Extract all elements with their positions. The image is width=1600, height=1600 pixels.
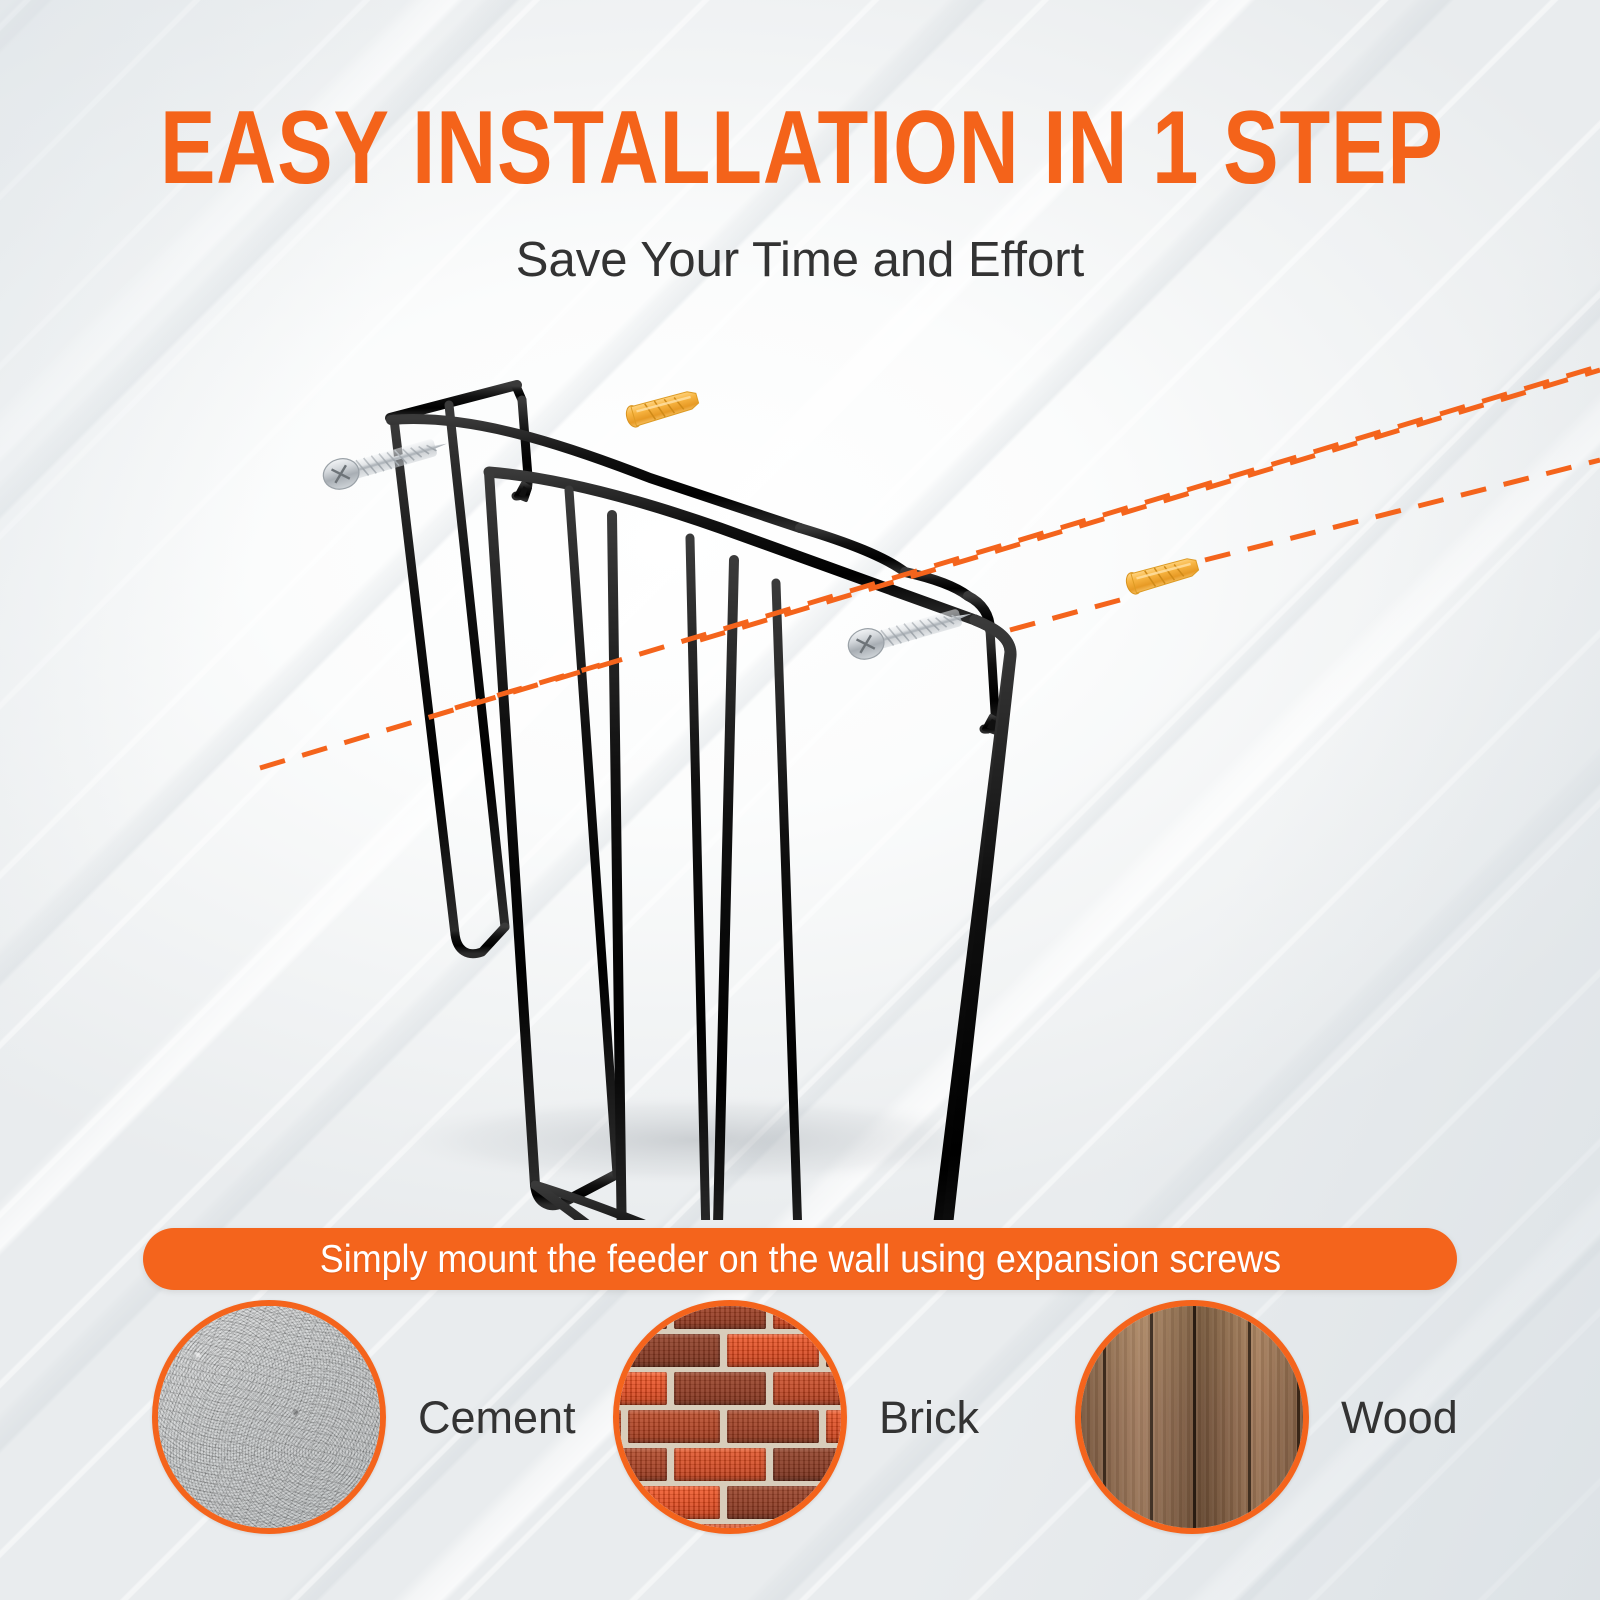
material-label-wood: Wood	[1341, 1395, 1458, 1440]
brick-swatch-icon	[613, 1300, 847, 1534]
instruction-banner-text: Simply mount the feeder on the wall usin…	[319, 1240, 1280, 1279]
cement-swatch-icon	[152, 1300, 386, 1534]
wall-anchor-lower	[1124, 555, 1200, 596]
brick-texture	[615, 1302, 845, 1532]
brick-unit	[773, 1372, 847, 1405]
guide-dash-seg-lower-b	[1205, 460, 1600, 560]
wood-shading	[1077, 1302, 1307, 1532]
wood-texture	[1077, 1302, 1307, 1532]
brick-unit	[674, 1372, 766, 1405]
brick-unit	[773, 1448, 847, 1481]
material-label-brick: Brick	[879, 1395, 979, 1440]
brick-unit	[727, 1486, 819, 1519]
wall-anchor-upper	[624, 388, 700, 429]
brick-unit	[628, 1410, 720, 1443]
wire-rack-frame	[390, 385, 1010, 1220]
brick-unit	[613, 1334, 621, 1367]
brick-unit	[674, 1448, 766, 1481]
material-item-wood: Wood	[1075, 1300, 1458, 1534]
brick-unit	[613, 1410, 621, 1443]
brick-unit	[826, 1410, 847, 1443]
expansion-screw-upper	[320, 429, 451, 493]
brick-row	[613, 1334, 847, 1372]
brick-unit	[674, 1300, 766, 1329]
brick-unit	[674, 1524, 766, 1534]
brick-unit	[773, 1300, 847, 1329]
hook-1-tab	[516, 483, 530, 500]
brick-unit	[727, 1334, 819, 1367]
brick-unit	[826, 1334, 847, 1367]
brick-unit	[773, 1524, 847, 1534]
brick-unit	[628, 1486, 720, 1519]
anchor-body-upper	[631, 389, 700, 426]
brick-unit	[613, 1300, 667, 1329]
material-label-cement: Cement	[418, 1395, 576, 1440]
cement-texture	[158, 1306, 380, 1528]
brick-unit	[826, 1486, 847, 1519]
wood-swatch-icon	[1075, 1300, 1309, 1534]
compatible-materials-row: Cement Brick Wood	[0, 1300, 1600, 1570]
page-title: EASY INSTALLATION IN 1 STEP	[160, 96, 1440, 200]
guide-dash-seg-upper-b	[700, 370, 1600, 640]
brick-row	[613, 1372, 847, 1410]
material-item-cement: Cement	[152, 1300, 576, 1534]
promo-image-canvas: EASY INSTALLATION IN 1 STEP Save Your Ti…	[0, 0, 1600, 1600]
brick-unit	[613, 1372, 667, 1405]
material-item-brick: Brick	[613, 1300, 979, 1534]
anchor-body-lower	[1131, 556, 1200, 593]
brick-unit	[613, 1486, 621, 1519]
brick-unit	[727, 1410, 819, 1443]
brick-unit	[628, 1334, 720, 1367]
brick-row	[613, 1486, 847, 1524]
brick-row	[613, 1410, 847, 1448]
brick-row	[613, 1300, 847, 1334]
product-illustration	[0, 300, 1600, 1220]
brick-unit	[613, 1524, 667, 1534]
instruction-banner: Simply mount the feeder on the wall usin…	[143, 1228, 1457, 1290]
brick-row	[613, 1448, 847, 1486]
brick-row	[613, 1524, 847, 1534]
page-subtitle: Save Your Time and Effort	[0, 230, 1600, 290]
brick-unit	[613, 1448, 667, 1481]
